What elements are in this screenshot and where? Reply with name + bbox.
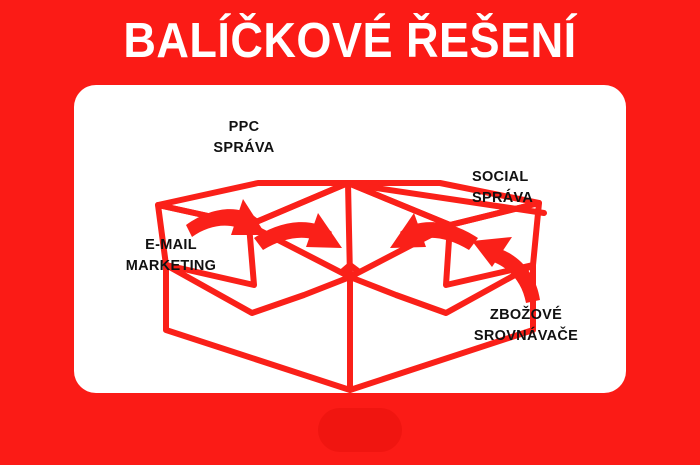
label-ppc-line2: SPRÁVA (189, 138, 299, 159)
label-social-line1: SOCIAL (472, 169, 529, 185)
page-title: BALÍČKOVÉ ŘEŠENÍ (28, 12, 672, 70)
label-social-line2: SPRÁVA (472, 188, 612, 209)
poster-canvas: BALÍČKOVÉ ŘEŠENÍ (0, 0, 700, 465)
content-card: PPC SPRÁVA E-MAIL MARKETING SOCIAL SPRÁV… (74, 85, 626, 393)
arrow-email-icon (186, 199, 266, 237)
label-zbozove-line2: SROVNÁVAČE (436, 326, 616, 347)
label-ppc-sprava: PPC SPRÁVA (189, 117, 299, 159)
label-email-marketing: E-MAIL MARKETING (96, 235, 246, 277)
card-shadow-pad (318, 408, 402, 452)
box-back-center-seam (348, 183, 350, 277)
label-zbozove-line1: ZBOŽOVÉ (490, 307, 562, 323)
label-social-sprava: SOCIAL SPRÁVA (472, 167, 612, 209)
label-email-line2: MARKETING (96, 256, 246, 277)
label-email-line1: E-MAIL (145, 237, 197, 253)
label-zbozove-srovnavace: ZBOŽOVÉ SROVNÁVAČE (436, 305, 616, 347)
label-ppc-line1: PPC (229, 119, 260, 135)
